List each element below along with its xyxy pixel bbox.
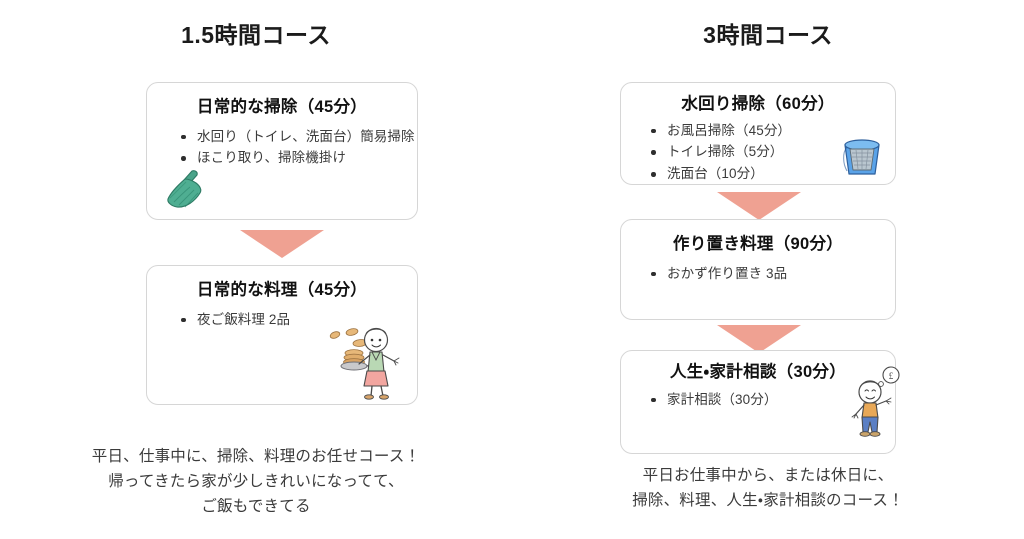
cooking-person-icon <box>326 316 404 400</box>
bucket-icon <box>838 131 886 179</box>
caption-line: 帰ってきたら家が少しきれいになってて、 <box>0 469 512 494</box>
arrow-down-icon <box>240 230 324 258</box>
thinking-person-icon: £ <box>848 366 902 438</box>
caption-3h: 平日お仕事中から、または休日に、 掃除、料理、人生・家計相談のコース！ <box>512 463 1024 513</box>
list-item: 水回り（トイレ、洗面台）簡易掃除 <box>181 126 417 148</box>
course-title-3h: 3時間コース <box>512 0 1024 50</box>
arrow-down-icon <box>717 192 801 220</box>
course-title-1-5h: 1.5時間コース <box>0 0 512 50</box>
card-title-wet-area-cleaning: 水回り掃除（60分） <box>621 83 895 116</box>
broom-icon <box>164 168 210 212</box>
slide-canvas: 1.5時間コース 日常的な掃除（45分） 水回り（トイレ、洗面台）簡易掃除 ほこ… <box>0 0 1024 539</box>
arrow-down-icon <box>717 325 801 353</box>
card-title-batch-cooking: 作り置き料理（90分） <box>621 220 895 259</box>
course-column-1-5h: 1.5時間コース 日常的な掃除（45分） 水回り（トイレ、洗面台）簡易掃除 ほこ… <box>0 0 512 539</box>
caption-line: 掃除、料理、人生・家計相談のコース！ <box>512 488 1024 513</box>
list-item: ほこり取り、掃除機掛け <box>181 147 417 169</box>
caption-line: ご飯もできてる <box>0 494 512 519</box>
caption-1-5h: 平日、仕事中に、掃除、料理のお任せコース！ 帰ってきたら家が少しきれいになってて… <box>0 444 512 519</box>
card-batch-cooking: 作り置き料理（90分） おかず作り置き 3品 <box>620 219 896 320</box>
card-title-daily-cooking: 日常的な料理（45分） <box>147 266 417 305</box>
card-title-daily-cleaning: 日常的な掃除（45分） <box>147 83 417 122</box>
caption-line: 平日、仕事中に、掃除、料理のお任せコース！ <box>0 444 512 469</box>
card-list-batch-cooking: おかず作り置き 3品 <box>621 259 895 285</box>
svg-text:£: £ <box>889 371 894 381</box>
list-item: おかず作り置き 3品 <box>651 263 895 285</box>
card-list-daily-cleaning: 水回り（トイレ、洗面台）簡易掃除 ほこり取り、掃除機掛け <box>147 122 417 170</box>
course-column-3h: 3時間コース 水回り掃除（60分） お風呂掃除（45分） トイレ掃除（5分） 洗… <box>512 0 1024 539</box>
caption-line: 平日お仕事中から、または休日に、 <box>512 463 1024 488</box>
